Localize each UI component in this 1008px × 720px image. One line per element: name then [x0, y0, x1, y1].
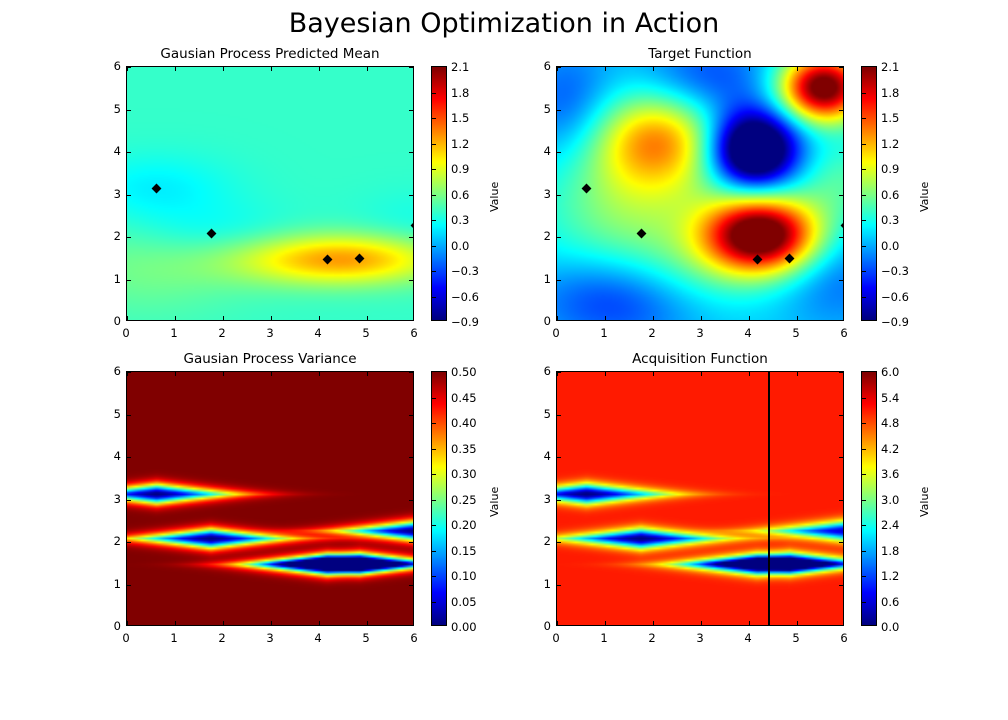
y-tickmark-right: [409, 415, 413, 416]
colorbar-tickmark: [432, 144, 436, 145]
panel-gp-variance: Gausian Process Variance01234560123456: [126, 371, 414, 626]
y-tickmark-right: [409, 585, 413, 586]
x-tickmark-top: [749, 67, 750, 71]
y-tick-label: 0: [544, 314, 551, 328]
x-tick-label: 6: [840, 631, 847, 645]
y-tickmark: [557, 372, 561, 373]
x-tick-label: 4: [744, 631, 751, 645]
colorbar-tickmark: [432, 297, 436, 298]
axes-target-function: [556, 66, 844, 321]
colorbar-tick-label: 4.8: [881, 416, 899, 430]
x-tickmark-top: [605, 67, 606, 71]
colorbar-tick-label: 2.4: [881, 518, 899, 532]
colorbar-tick-label: 6.0: [881, 365, 899, 379]
x-tick-label: 6: [410, 326, 417, 340]
x-tickmark: [127, 316, 128, 320]
colorbar-tickmark: [862, 576, 866, 577]
panel-gp-predicted-mean: Gausian Process Predicted Mean0123456012…: [126, 66, 414, 321]
x-tickmark-top: [367, 372, 368, 376]
colorbar-tickmark: [862, 246, 866, 247]
colorbar-tick-label: −0.9: [451, 315, 479, 329]
colorbar-gradient: [862, 67, 876, 320]
colorbar-tick-label: 1.5: [881, 111, 899, 125]
colorbar-tick-label: 0.45: [451, 391, 477, 405]
y-tickmark-right: [409, 195, 413, 196]
colorbar-tick-label: 1.8: [881, 544, 899, 558]
x-tick-label: 4: [314, 326, 321, 340]
y-tickmark-right: [839, 152, 843, 153]
colorbar-tick-label: 0.6: [881, 595, 899, 609]
y-tick-label: 4: [114, 144, 121, 158]
colorbar-tickmark: [432, 271, 436, 272]
colorbar-gradient: [432, 67, 446, 320]
y-tickmark: [127, 415, 131, 416]
colorbar-tick-label: 0.05: [451, 595, 477, 609]
y-tick-label: 5: [544, 407, 551, 421]
y-tickmark: [557, 500, 561, 501]
y-tick-label: 5: [114, 407, 121, 421]
colorbar-gp-predicted-mean: −0.9−0.6−0.30.00.30.60.91.21.51.82.1Valu…: [431, 66, 447, 321]
colorbar-tick-label: 2.1: [451, 60, 469, 74]
x-tick-label: 5: [792, 326, 799, 340]
colorbar-tick-label: 1.8: [881, 86, 899, 100]
x-tick-label: 0: [552, 326, 559, 340]
y-tickmark-right: [839, 542, 843, 543]
x-tickmark-top: [605, 372, 606, 376]
x-tickmark: [653, 316, 654, 320]
colorbar-tickmark: [862, 449, 866, 450]
x-tickmark: [127, 621, 128, 625]
x-tick-label: 3: [266, 326, 273, 340]
x-tick-label: 6: [410, 631, 417, 645]
colorbar-gradient: [862, 372, 876, 625]
x-tickmark: [749, 316, 750, 320]
colorbar-tick-label: 0.3: [881, 213, 899, 227]
y-tickmark-right: [409, 457, 413, 458]
colorbar-tick-label: 0.00: [451, 620, 477, 634]
y-tick-label: 6: [114, 59, 121, 73]
x-tickmark-top: [319, 372, 320, 376]
x-tickmark: [605, 316, 606, 320]
acquisition-max-vline: [768, 372, 770, 625]
x-tickmark-top: [271, 67, 272, 71]
y-tick-label: 2: [114, 534, 121, 548]
y-tickmark: [557, 195, 561, 196]
panel-title-target-function: Target Function: [556, 46, 844, 62]
x-tickmark: [367, 316, 368, 320]
y-tickmark-right: [409, 500, 413, 501]
y-tick-label: 2: [544, 534, 551, 548]
y-tick-label: 4: [114, 449, 121, 463]
y-tickmark: [127, 110, 131, 111]
y-tick-label: 4: [544, 144, 551, 158]
colorbar-gradient: [432, 372, 446, 625]
colorbar-tick-label: −0.3: [881, 264, 909, 278]
x-tickmark: [319, 316, 320, 320]
colorbar-tick-label: 5.4: [881, 391, 899, 405]
y-tick-label: 3: [544, 492, 551, 506]
colorbar-tick-label: 0.35: [451, 442, 477, 456]
figure-title: Bayesian Optimization in Action: [0, 8, 1008, 39]
colorbar-gp-variance: 0.000.050.100.150.200.250.300.350.400.45…: [431, 371, 447, 626]
y-tick-label: 2: [544, 229, 551, 243]
x-tick-label: 2: [218, 326, 225, 340]
y-tickmark: [557, 110, 561, 111]
colorbar-tick-label: 0.9: [451, 162, 469, 176]
colorbar-tick-label: 0.3: [451, 213, 469, 227]
heatmap-target-function: [557, 67, 844, 321]
y-tickmark: [557, 280, 561, 281]
y-tick-label: 5: [114, 102, 121, 116]
colorbar-tickmark: [862, 500, 866, 501]
colorbar-tick-label: −0.9: [881, 315, 909, 329]
x-tick-label: 6: [840, 326, 847, 340]
colorbar-tickmark: [862, 169, 866, 170]
y-tick-label: 0: [114, 619, 121, 633]
x-tickmark: [271, 621, 272, 625]
x-tick-label: 1: [170, 631, 177, 645]
colorbar-tickmark: [432, 449, 436, 450]
y-tickmark: [557, 237, 561, 238]
x-tickmark: [797, 621, 798, 625]
colorbar-tickmark: [862, 118, 866, 119]
y-tickmark-right: [409, 152, 413, 153]
x-tick-label: 1: [600, 326, 607, 340]
y-tick-label: 4: [544, 449, 551, 463]
y-tickmark-right: [839, 237, 843, 238]
x-tickmark: [701, 621, 702, 625]
y-tickmark-right: [409, 372, 413, 373]
y-tickmark: [557, 415, 561, 416]
colorbar-tickmark: [432, 93, 436, 94]
x-tickmark: [701, 316, 702, 320]
panel-target-function: Target Function01234560123456: [556, 66, 844, 321]
x-tickmark-top: [223, 67, 224, 71]
y-tickmark: [127, 372, 131, 373]
y-tickmark-right: [839, 372, 843, 373]
panel-title-gp-variance: Gausian Process Variance: [126, 351, 414, 367]
colorbar-tickmark: [432, 195, 436, 196]
x-tickmark-top: [175, 67, 176, 71]
x-tickmark-top: [701, 67, 702, 71]
colorbar-tickmark: [432, 551, 436, 552]
y-tick-label: 5: [544, 102, 551, 116]
colorbar-tick-label: 1.2: [881, 569, 899, 583]
colorbar-acquisition-function: 0.00.61.21.82.43.03.64.24.85.46.0Value: [861, 371, 877, 626]
colorbar-tick-label: 1.5: [451, 111, 469, 125]
y-tick-label: 0: [114, 314, 121, 328]
x-tickmark: [175, 621, 176, 625]
x-tick-label: 5: [792, 631, 799, 645]
y-tickmark-right: [839, 110, 843, 111]
x-tick-label: 0: [122, 326, 129, 340]
y-tickmark-right: [409, 67, 413, 68]
y-tickmark: [557, 585, 561, 586]
y-tickmark-right: [839, 195, 843, 196]
colorbar-tickmark: [862, 220, 866, 221]
colorbar-tick-label: 0.0: [451, 239, 469, 253]
colorbar-tick-label: 0.6: [451, 188, 469, 202]
x-tickmark-top: [271, 372, 272, 376]
x-tickmark-top: [367, 67, 368, 71]
axes-acquisition-function: [556, 371, 844, 626]
colorbar-axis-label: Value: [488, 486, 501, 516]
colorbar-tickmark: [862, 602, 866, 603]
y-tick-label: 3: [114, 187, 121, 201]
colorbar-tickmark: [432, 423, 436, 424]
colorbar-tickmark: [432, 500, 436, 501]
colorbar-tickmark: [432, 576, 436, 577]
colorbar-tick-label: 0.15: [451, 544, 477, 558]
colorbar-tick-label: 0.0: [881, 239, 899, 253]
y-tickmark-right: [409, 542, 413, 543]
x-tickmark: [557, 621, 558, 625]
x-tickmark-top: [749, 372, 750, 376]
x-tickmark: [557, 316, 558, 320]
heatmap-gp-predicted-mean: [127, 67, 414, 321]
y-tick-label: 1: [114, 272, 121, 286]
x-tick-label: 1: [600, 631, 607, 645]
colorbar-tick-label: 1.2: [881, 137, 899, 151]
y-tickmark: [557, 152, 561, 153]
colorbar-tickmark: [862, 398, 866, 399]
colorbar-tick-label: −0.6: [881, 290, 909, 304]
colorbar-tickmark: [862, 474, 866, 475]
axes-gp-variance: [126, 371, 414, 626]
colorbar-tick-label: −0.6: [451, 290, 479, 304]
y-tickmark-right: [839, 457, 843, 458]
colorbar-tick-label: 1.8: [451, 86, 469, 100]
x-tickmark-top: [701, 372, 702, 376]
panel-title-acquisition-function: Acquisition Function: [556, 351, 844, 367]
y-tick-label: 3: [114, 492, 121, 506]
y-tickmark-right: [409, 110, 413, 111]
x-tickmark-top: [797, 372, 798, 376]
x-tick-label: 3: [696, 631, 703, 645]
colorbar-tick-label: 0.6: [881, 188, 899, 202]
x-tick-label: 2: [218, 631, 225, 645]
y-tickmark: [557, 542, 561, 543]
colorbar-tick-label: 3.0: [881, 493, 899, 507]
x-tick-label: 1: [170, 326, 177, 340]
x-tickmark: [223, 621, 224, 625]
colorbar-tick-label: 0.30: [451, 467, 477, 481]
x-tickmark: [223, 316, 224, 320]
y-tickmark-right: [839, 280, 843, 281]
colorbar-tick-label: 1.2: [451, 137, 469, 151]
colorbar-tickmark: [432, 474, 436, 475]
colorbar-tickmark: [432, 602, 436, 603]
y-tickmark: [557, 67, 561, 68]
y-tickmark: [127, 457, 131, 458]
axes-gp-predicted-mean: [126, 66, 414, 321]
colorbar-tick-label: 2.1: [881, 60, 899, 74]
colorbar-tick-label: 4.2: [881, 442, 899, 456]
colorbar-target-function: −0.9−0.6−0.30.00.30.60.91.21.51.82.1Valu…: [861, 66, 877, 321]
y-tick-label: 0: [544, 619, 551, 633]
y-tickmark-right: [839, 67, 843, 68]
y-tick-label: 2: [114, 229, 121, 243]
x-tick-label: 3: [266, 631, 273, 645]
colorbar-tickmark: [862, 423, 866, 424]
x-tickmark: [749, 621, 750, 625]
colorbar-axis-label: Value: [918, 486, 931, 516]
x-tick-label: 0: [552, 631, 559, 645]
colorbar-tickmark: [432, 246, 436, 247]
y-tickmark-right: [409, 280, 413, 281]
colorbar-tick-label: 0.10: [451, 569, 477, 583]
x-tickmark: [653, 621, 654, 625]
colorbar-tickmark: [862, 144, 866, 145]
colorbar-axis-label: Value: [918, 181, 931, 211]
x-tick-label: 4: [314, 631, 321, 645]
y-tickmark-right: [839, 415, 843, 416]
y-tick-label: 1: [114, 577, 121, 591]
y-tickmark-right: [839, 585, 843, 586]
x-tick-label: 2: [648, 326, 655, 340]
y-tickmark-right: [409, 237, 413, 238]
y-tickmark: [127, 500, 131, 501]
colorbar-tickmark: [432, 398, 436, 399]
x-tickmark-top: [797, 67, 798, 71]
x-tickmark-top: [319, 67, 320, 71]
colorbar-tickmark: [862, 551, 866, 552]
colorbar-tick-label: 0.50: [451, 365, 477, 379]
x-tick-label: 2: [648, 631, 655, 645]
x-tickmark: [271, 316, 272, 320]
y-tickmark-right: [839, 500, 843, 501]
x-tickmark: [319, 621, 320, 625]
colorbar-tickmark: [862, 297, 866, 298]
y-tickmark: [127, 195, 131, 196]
y-tickmark: [127, 67, 131, 68]
heatmap-acquisition-function: [557, 372, 844, 626]
colorbar-tick-label: 0.25: [451, 493, 477, 507]
x-tickmark-top: [653, 67, 654, 71]
y-tickmark: [127, 585, 131, 586]
panel-acquisition-function: Acquisition Function01234560123456: [556, 371, 844, 626]
y-tickmark: [127, 542, 131, 543]
colorbar-tickmark: [432, 169, 436, 170]
y-tick-label: 6: [544, 59, 551, 73]
y-tickmark: [127, 152, 131, 153]
colorbar-tick-label: 0.0: [881, 620, 899, 634]
colorbar-tickmark: [432, 220, 436, 221]
x-tick-label: 4: [744, 326, 751, 340]
y-tickmark: [127, 280, 131, 281]
x-tickmark: [797, 316, 798, 320]
colorbar-tickmark: [862, 195, 866, 196]
y-tick-label: 1: [544, 577, 551, 591]
heatmap-gp-variance: [127, 372, 414, 626]
colorbar-tick-label: 0.20: [451, 518, 477, 532]
y-tick-label: 6: [114, 364, 121, 378]
x-tickmark-top: [175, 372, 176, 376]
colorbar-tickmark: [432, 118, 436, 119]
colorbar-axis-label: Value: [488, 181, 501, 211]
y-tickmark: [127, 237, 131, 238]
colorbar-tickmark: [862, 525, 866, 526]
figure-canvas: Bayesian Optimization in Action Gausian …: [0, 0, 1008, 720]
x-tickmark: [605, 621, 606, 625]
x-tickmark: [367, 621, 368, 625]
x-tick-label: 5: [362, 631, 369, 645]
colorbar-tickmark: [862, 271, 866, 272]
colorbar-tickmark: [432, 525, 436, 526]
colorbar-tick-label: −0.3: [451, 264, 479, 278]
colorbar-tick-label: 3.6: [881, 467, 899, 481]
x-tickmark-top: [223, 372, 224, 376]
colorbar-tickmark: [862, 93, 866, 94]
x-tick-label: 0: [122, 631, 129, 645]
x-tick-label: 5: [362, 326, 369, 340]
x-tick-label: 3: [696, 326, 703, 340]
y-tick-label: 3: [544, 187, 551, 201]
panel-title-gp-predicted-mean: Gausian Process Predicted Mean: [126, 46, 414, 62]
colorbar-tick-label: 0.40: [451, 416, 477, 430]
x-tickmark-top: [653, 372, 654, 376]
colorbar-tick-label: 0.9: [881, 162, 899, 176]
y-tick-label: 1: [544, 272, 551, 286]
x-tickmark: [175, 316, 176, 320]
y-tick-label: 6: [544, 364, 551, 378]
y-tickmark: [557, 457, 561, 458]
